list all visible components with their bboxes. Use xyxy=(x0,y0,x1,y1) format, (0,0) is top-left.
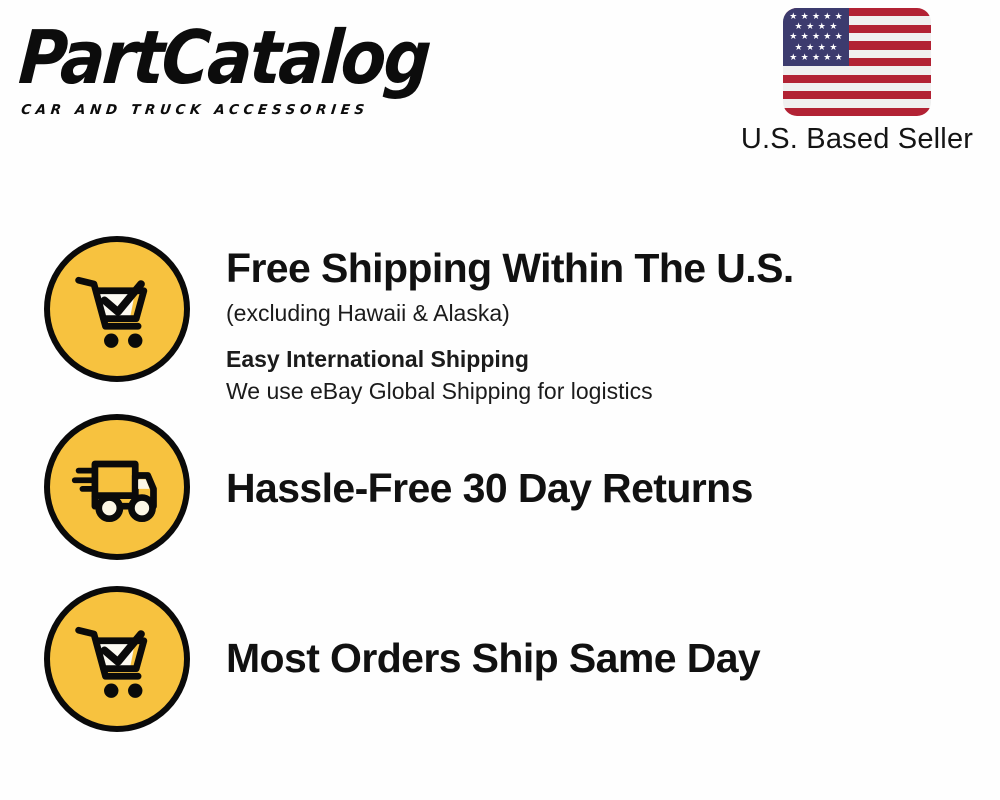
cart-check-icon xyxy=(44,236,190,382)
brand-tagline: CAR AND TRUCK ACCESSORIES xyxy=(20,102,492,118)
delivery-truck-icon xyxy=(44,414,190,560)
feature-subtext: We use eBay Global Shipping for logistic… xyxy=(226,376,1000,406)
brand-logo: PartCatalog CAR AND TRUCK ACCESSORIES xyxy=(22,18,492,118)
promo-banner: PartCatalog CAR AND TRUCK ACCESSORIES xyxy=(0,0,1000,800)
feature-title: Free Shipping Within The U.S. xyxy=(226,244,1000,292)
feature-row-same-day-ship: Most Orders Ship Same Day xyxy=(0,586,1000,746)
feature-text-block: Most Orders Ship Same Day xyxy=(190,586,1000,682)
feature-row-returns: Hassle-Free 30 Day Returns xyxy=(0,414,1000,586)
us-based-seller-badge: ★★★★★ ★★★★ ★★★★★ ★★★★ ★★★★★ U.S. Based S… xyxy=(722,8,992,156)
feature-text-block: Hassle-Free 30 Day Returns xyxy=(190,414,1000,512)
feature-row-free-shipping: Free Shipping Within The U.S. (excluding… xyxy=(0,236,1000,414)
feature-list: Free Shipping Within The U.S. (excluding… xyxy=(0,236,1000,746)
feature-subheading: Easy International Shipping xyxy=(226,344,1000,374)
feature-title: Hassle-Free 30 Day Returns xyxy=(226,464,1000,512)
feature-title: Most Orders Ship Same Day xyxy=(226,634,1000,682)
feature-text-block: Free Shipping Within The U.S. (excluding… xyxy=(190,236,1000,406)
cart-check-icon xyxy=(44,586,190,732)
us-flag-icon: ★★★★★ ★★★★ ★★★★★ ★★★★ ★★★★★ xyxy=(783,8,931,116)
feature-note: (excluding Hawaii & Alaska) xyxy=(226,298,1000,328)
flag-canton: ★★★★★ ★★★★ ★★★★★ ★★★★ ★★★★★ xyxy=(783,8,849,66)
brand-wordmark: PartCatalog xyxy=(16,18,492,99)
us-based-seller-label: U.S. Based Seller xyxy=(741,122,973,156)
